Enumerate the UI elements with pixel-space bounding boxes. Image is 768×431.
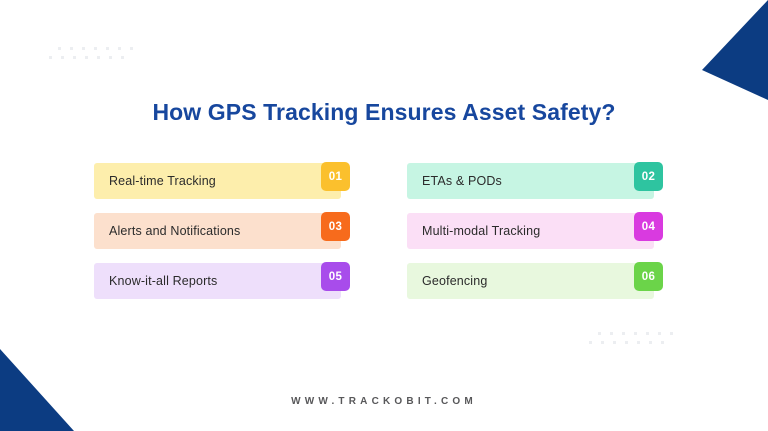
feature-card-06[interactable]: Geofencing 06 [407, 263, 654, 299]
dot [670, 332, 673, 335]
feature-card-grid: Real-time Tracking 01 ETAs & PODs 02 Ale… [94, 163, 654, 299]
feature-card-label: Alerts and Notifications [94, 224, 240, 238]
dot-grid-top-left [58, 47, 133, 59]
infographic-canvas: How GPS Tracking Ensures Asset Safety? R… [0, 0, 768, 431]
feature-card-label: Real-time Tracking [94, 174, 216, 188]
dot [622, 332, 625, 335]
dot [85, 56, 88, 59]
feature-card-03[interactable]: Alerts and Notifications 03 [94, 213, 341, 249]
dot [658, 332, 661, 335]
dot [73, 56, 76, 59]
dot-grid-bottom-right [598, 332, 673, 344]
feature-card-label: Know-it-all Reports [94, 274, 217, 288]
dot [82, 47, 85, 50]
feature-card-label: ETAs & PODs [407, 174, 502, 188]
feature-card-number-badge: 06 [634, 262, 663, 291]
feature-card-number-badge: 02 [634, 162, 663, 191]
dot-row [49, 56, 133, 59]
dot [130, 47, 133, 50]
dot [97, 56, 100, 59]
feature-card-number-badge: 05 [321, 262, 350, 291]
feature-card-label: Multi-modal Tracking [407, 224, 540, 238]
dot-row [58, 47, 133, 50]
dot [589, 341, 592, 344]
feature-card-04[interactable]: Multi-modal Tracking 04 [407, 213, 654, 249]
navy-triangle-top-right-icon [702, 0, 768, 100]
dot [94, 47, 97, 50]
dot [121, 56, 124, 59]
dot [649, 341, 652, 344]
dot [661, 341, 664, 344]
dot [118, 47, 121, 50]
feature-card-01[interactable]: Real-time Tracking 01 [94, 163, 341, 199]
page-title: How GPS Tracking Ensures Asset Safety? [0, 99, 768, 126]
dot [625, 341, 628, 344]
dot [646, 332, 649, 335]
feature-card-number-badge: 01 [321, 162, 350, 191]
navy-triangle-bottom-left-icon [0, 349, 74, 431]
feature-card-label: Geofencing [407, 274, 487, 288]
feature-card-02[interactable]: ETAs & PODs 02 [407, 163, 654, 199]
dot [58, 47, 61, 50]
dot [70, 47, 73, 50]
dot [634, 332, 637, 335]
dot [49, 56, 52, 59]
dot-row [589, 341, 673, 344]
footer-website-url: WWW.TRACKOBIT.COM [0, 396, 768, 407]
dot [613, 341, 616, 344]
dot [109, 56, 112, 59]
feature-card-05[interactable]: Know-it-all Reports 05 [94, 263, 341, 299]
feature-card-number-badge: 03 [321, 212, 350, 241]
feature-card-number-badge: 04 [634, 212, 663, 241]
dot [106, 47, 109, 50]
dot [61, 56, 64, 59]
dot [598, 332, 601, 335]
dot [637, 341, 640, 344]
dot-row [598, 332, 673, 335]
dot [610, 332, 613, 335]
dot [601, 341, 604, 344]
